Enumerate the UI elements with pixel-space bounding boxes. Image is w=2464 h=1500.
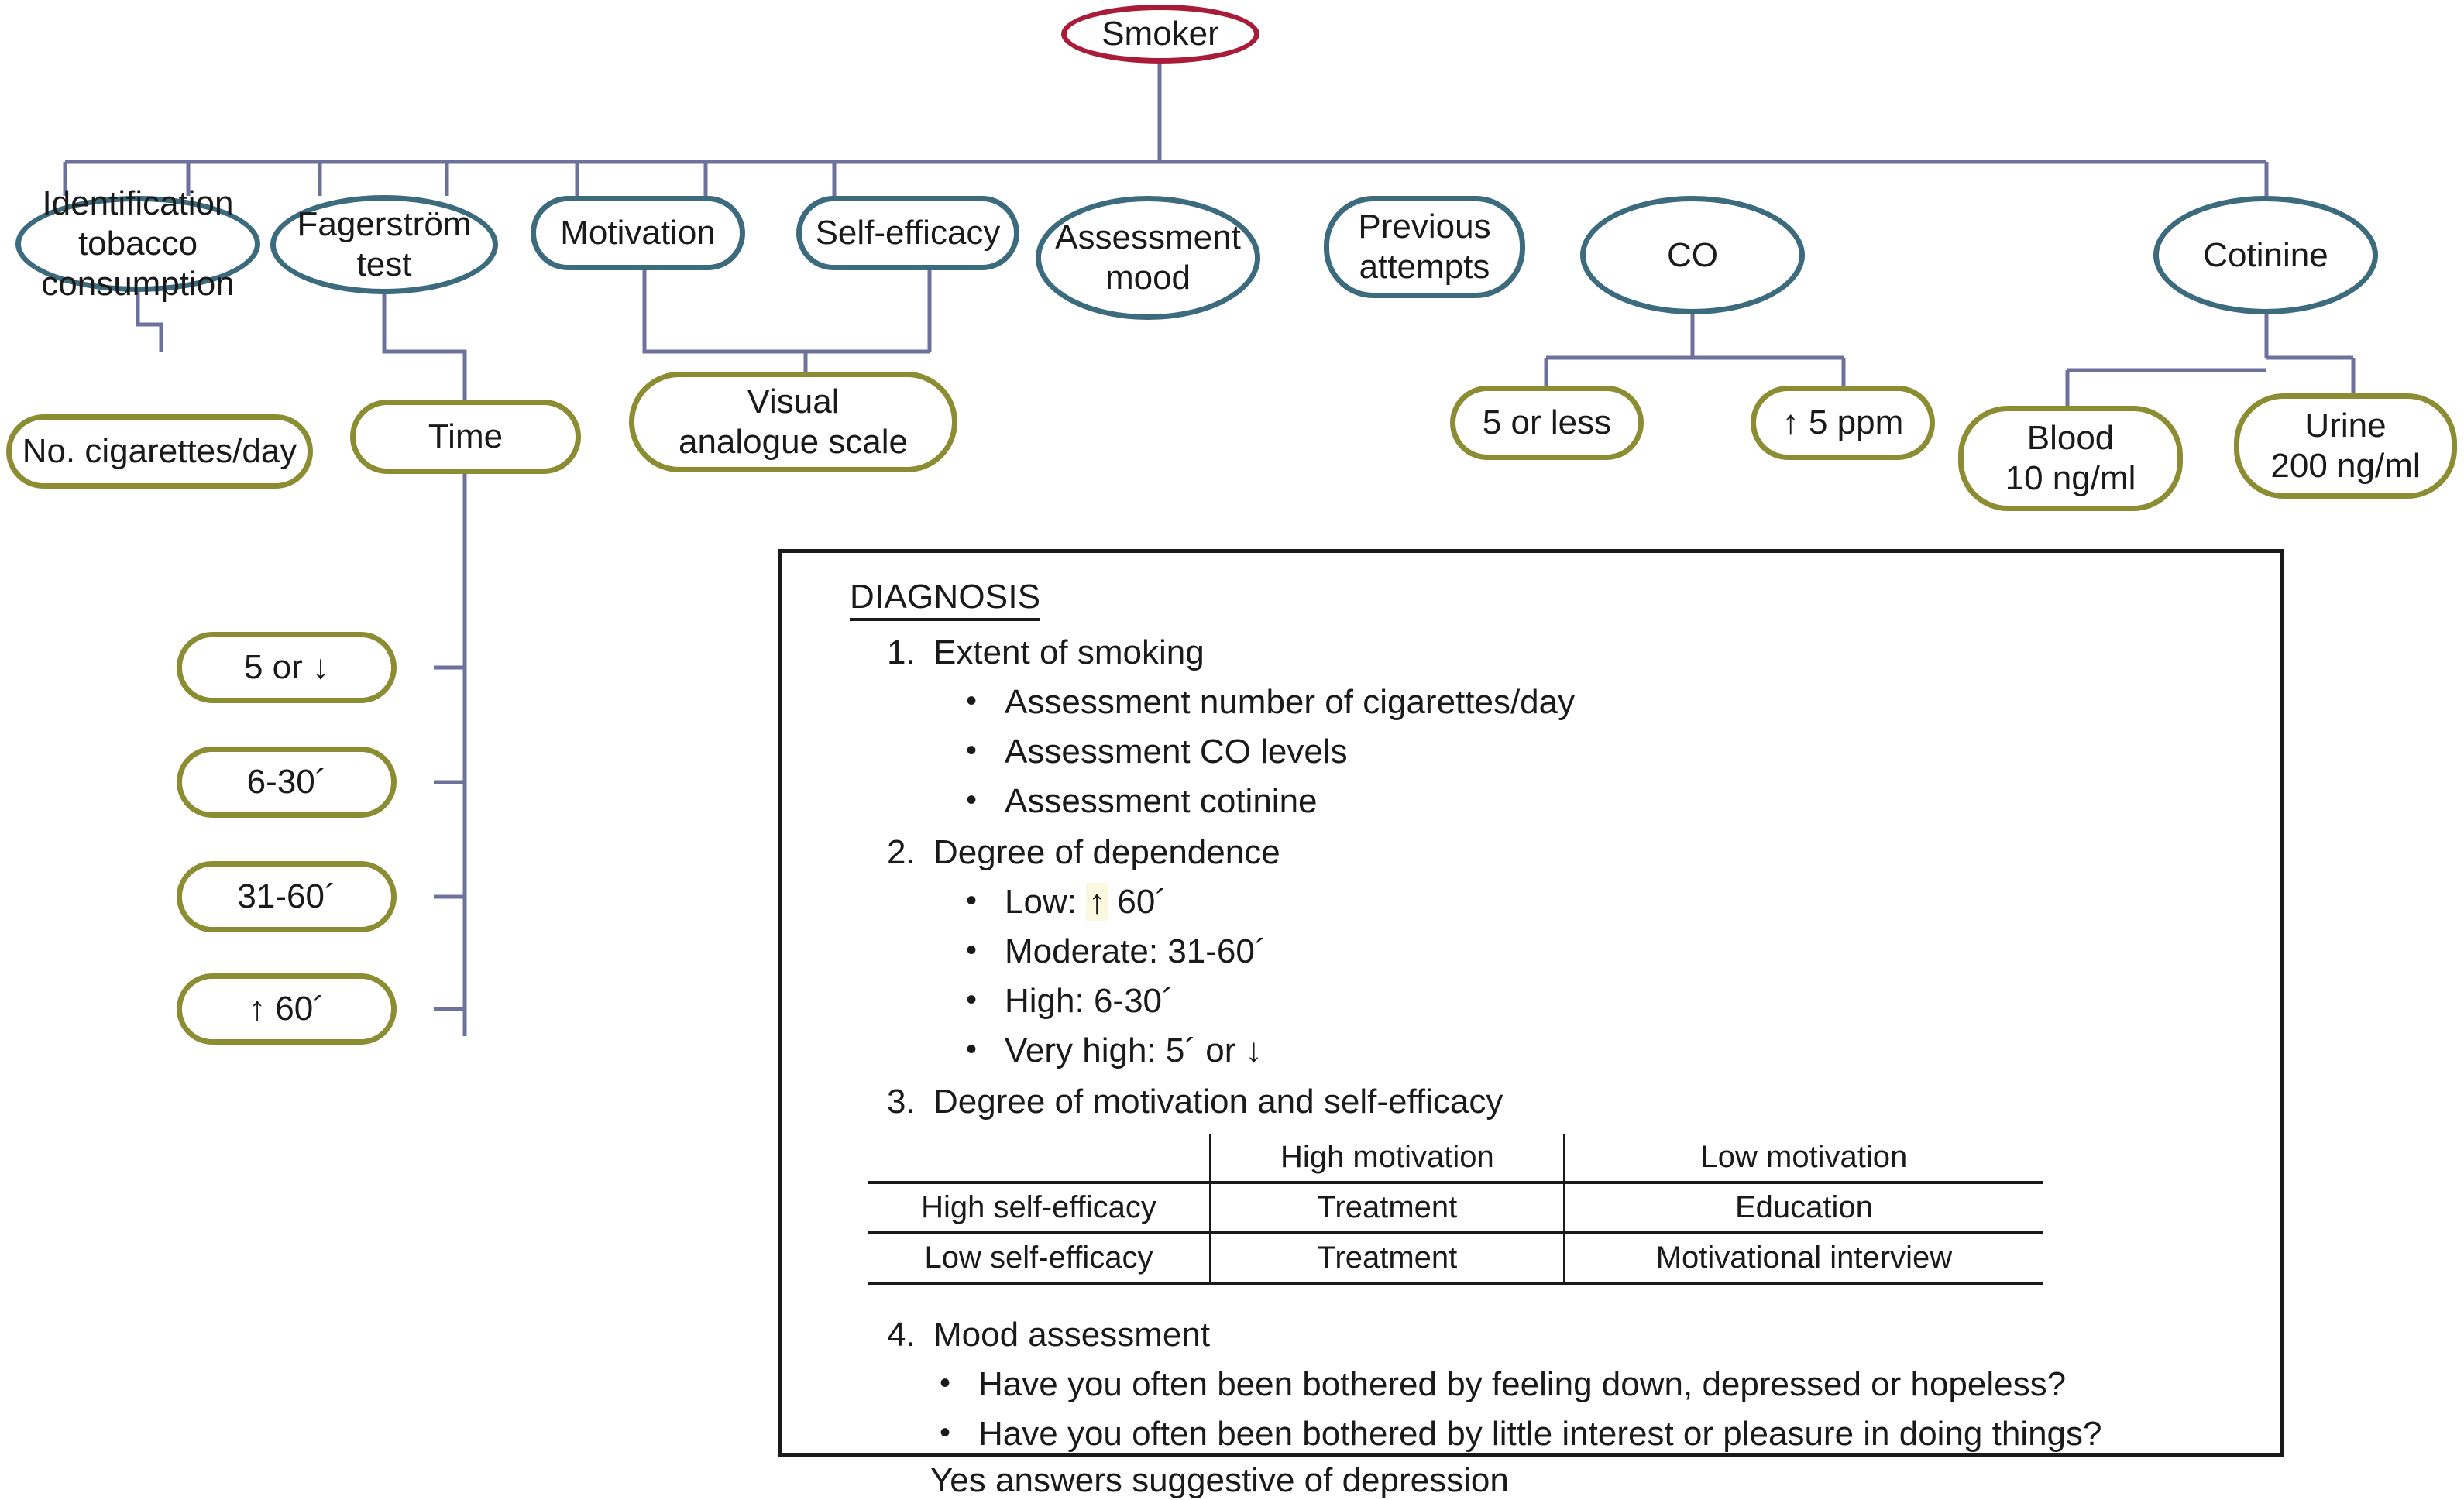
node-co-5-or-less[interactable]: 5 or less xyxy=(1450,386,1644,460)
diagnosis-panel: DIAGNOSIS 1. Extent of smoking • Assessm… xyxy=(778,549,2284,1457)
bullet-icon: • xyxy=(966,683,1005,722)
node-label: Self-efficacy xyxy=(808,213,1009,253)
node-label: 5 or less xyxy=(1475,403,1619,443)
table-cell: Treatment xyxy=(1211,1233,1565,1283)
node-label: 5 or ↓ xyxy=(236,647,337,688)
table-cell: Treatment xyxy=(1211,1182,1565,1233)
node-time-above-60[interactable]: ↑ 60´ xyxy=(177,973,397,1045)
list-item: • Assessment CO levels xyxy=(966,733,2280,771)
node-label: CO xyxy=(1659,235,1726,276)
table-row: Low self-efficacy Treatment Motivational… xyxy=(868,1233,2043,1283)
node-identification-tobacco-consumption[interactable]: Identification tobacco consumption xyxy=(15,196,260,292)
section-heading: Extent of smoking xyxy=(933,633,1205,672)
node-label: Time xyxy=(421,417,510,457)
node-label: Previous attempts xyxy=(1350,207,1498,287)
node-fagerstrom-test[interactable]: Fagerström test xyxy=(270,195,498,294)
section-heading: Degree of dependence xyxy=(933,833,1280,872)
up-arrow-icon: ↑ xyxy=(1086,883,1108,921)
section-number: 2. xyxy=(887,833,933,872)
list-item-label: Have you often been bothered by little i… xyxy=(978,1415,2102,1454)
node-smoker[interactable]: Smoker xyxy=(1061,5,1259,64)
node-time-31-60[interactable]: 31-60´ xyxy=(177,861,397,932)
list-item: • Very high: 5´ or ↓ xyxy=(966,1031,2280,1070)
node-label: 6-30´ xyxy=(239,762,335,802)
list-item-label: Very high: 5´ or ↓ xyxy=(1005,1031,1263,1070)
row-header: High self-efficacy xyxy=(868,1182,1211,1233)
diagram-canvas: Smoker Identification tobacco consumptio… xyxy=(0,0,2464,1462)
node-label: Assessment mood xyxy=(1047,218,1249,298)
bullet-icon: • xyxy=(966,883,1005,922)
column-header: High motivation xyxy=(1211,1134,1565,1182)
list-item: • Have you often been bothered by feelin… xyxy=(940,1365,2280,1404)
node-visual-analogue-scale[interactable]: Visual analogue scale xyxy=(629,372,957,472)
table-corner-cell xyxy=(868,1134,1211,1182)
section-heading: Mood assessment xyxy=(933,1316,1210,1354)
list-item: • Low: ↑ 60´ xyxy=(966,883,2280,922)
bullet-icon: • xyxy=(966,932,1005,971)
list-item-label: Assessment CO levels xyxy=(1005,733,1348,771)
bullet-icon: • xyxy=(940,1365,978,1404)
node-label: Motivation xyxy=(552,213,723,253)
section-number: 1. xyxy=(887,633,933,672)
node-label: No. cigarettes/day xyxy=(15,431,305,472)
list-item: • Assessment cotinine xyxy=(966,782,2280,821)
diagnosis-section-4: 4. Mood assessment xyxy=(887,1316,2280,1354)
list-item-label: Assessment number of cigarettes/day xyxy=(1005,683,1575,722)
node-co-above-5-ppm[interactable]: ↑ 5 ppm xyxy=(1751,386,1935,460)
section-heading: Degree of motivation and self-efficacy xyxy=(933,1083,1503,1121)
node-label: Blood 10 ng/ml xyxy=(1998,418,2144,499)
table-row: High self-efficacy Treatment Education xyxy=(868,1182,2043,1233)
column-header: Low motivation xyxy=(1564,1134,2043,1182)
list-item-label: Low: ↑ 60´ xyxy=(1005,883,1167,922)
node-time-5-or-less[interactable]: 5 or ↓ xyxy=(177,632,397,703)
node-previous-attempts[interactable]: Previous attempts xyxy=(1324,196,1525,298)
node-no-cigarettes-per-day[interactable]: No. cigarettes/day xyxy=(6,414,313,489)
node-urine-cotinine[interactable]: Urine 200 ng/ml xyxy=(2234,393,2457,499)
list-item: • Moderate: 31-60´ xyxy=(966,932,2280,971)
node-label: Fagerström test xyxy=(290,204,479,285)
section-number: 4. xyxy=(887,1316,933,1354)
low-prefix: Low: xyxy=(1005,883,1086,921)
row-header: Low self-efficacy xyxy=(868,1233,1211,1283)
low-suffix: 60´ xyxy=(1108,883,1167,921)
list-item-label: Have you often been bothered by feeling … xyxy=(978,1365,2066,1404)
motivation-self-efficacy-table: High motivation Low motivation High self… xyxy=(868,1134,2043,1285)
list-item-label: High: 6-30´ xyxy=(1005,982,1174,1021)
node-label: 31-60´ xyxy=(229,877,343,917)
diagnosis-section-2: 2. Degree of dependence xyxy=(887,833,2280,872)
node-assessment-mood[interactable]: Assessment mood xyxy=(1036,196,1260,320)
list-item-label: Moderate: 31-60´ xyxy=(1005,932,1266,971)
node-time-6-30[interactable]: 6-30´ xyxy=(177,747,397,818)
node-co[interactable]: CO xyxy=(1580,196,1805,314)
list-item-label: Assessment cotinine xyxy=(1005,782,1318,821)
node-label: Urine 200 ng/ml xyxy=(2263,406,2428,486)
bullet-icon: • xyxy=(966,733,1005,771)
node-label: Smoker xyxy=(1094,14,1227,54)
node-label: Visual analogue scale xyxy=(671,382,916,462)
list-item: • Have you often been bothered by little… xyxy=(940,1415,2280,1454)
list-item: • High: 6-30´ xyxy=(966,982,2280,1021)
node-blood-cotinine[interactable]: Blood 10 ng/ml xyxy=(1958,406,2183,511)
diagnosis-footer-note: Yes answers suggestive of depression xyxy=(930,1461,2280,1500)
bullet-icon: • xyxy=(966,782,1005,821)
table-header-row: High motivation Low motivation xyxy=(868,1134,2043,1182)
table-cell: Education xyxy=(1564,1182,2043,1233)
node-motivation[interactable]: Motivation xyxy=(531,196,745,270)
node-self-efficacy[interactable]: Self-efficacy xyxy=(796,196,1019,270)
node-time[interactable]: Time xyxy=(350,400,581,474)
bullet-icon: • xyxy=(966,1031,1005,1070)
section-number: 3. xyxy=(887,1083,933,1121)
node-label: Cotinine xyxy=(2195,235,2335,276)
diagnosis-section-1: 1. Extent of smoking xyxy=(887,633,2280,672)
bullet-icon: • xyxy=(940,1415,978,1454)
bullet-icon: • xyxy=(966,982,1005,1021)
node-cotinine[interactable]: Cotinine xyxy=(2153,196,2378,314)
node-label: Identification tobacco consumption xyxy=(33,184,242,304)
node-label: ↑ 60´ xyxy=(241,989,332,1029)
diagnosis-title: DIAGNOSIS xyxy=(850,578,1040,621)
diagnosis-section-3: 3. Degree of motivation and self-efficac… xyxy=(887,1083,2280,1121)
node-label: ↑ 5 ppm xyxy=(1775,403,1912,443)
list-item: • Assessment number of cigarettes/day xyxy=(966,683,2280,722)
table-cell: Motivational interview xyxy=(1564,1233,2043,1283)
